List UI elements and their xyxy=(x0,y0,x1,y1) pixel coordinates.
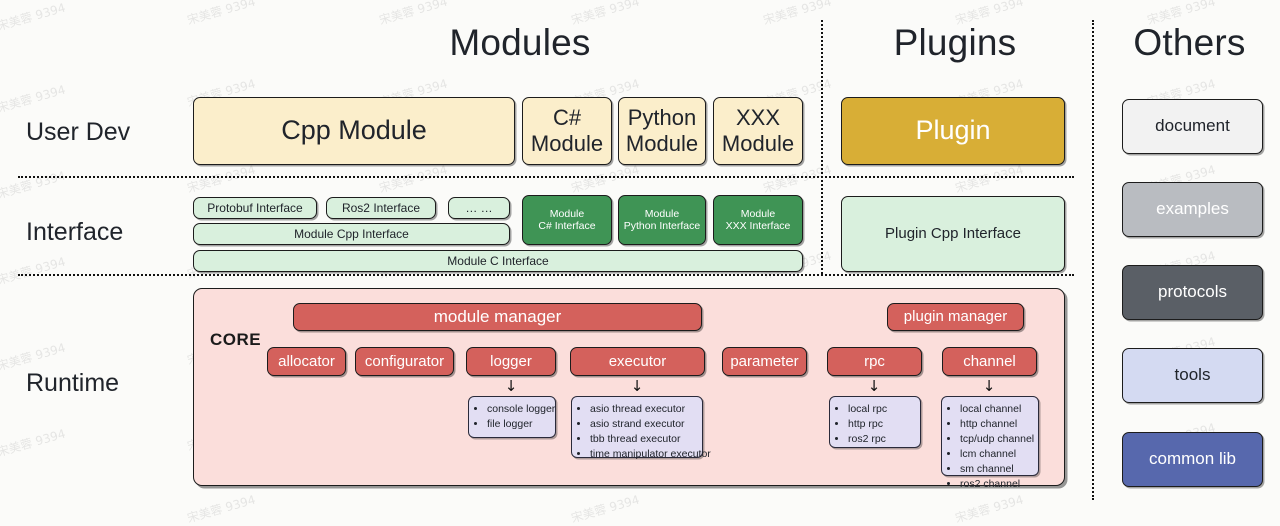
list-item: console logger xyxy=(487,402,549,417)
box-csharp-module-line2: Module xyxy=(531,131,603,157)
box-protobuf-interface[interactable]: Protobuf Interface xyxy=(193,197,317,219)
row-label-user-dev: User Dev xyxy=(26,118,130,147)
box-ros2-interface[interactable]: Ros2 Interface xyxy=(326,197,436,219)
box-csharp-module[interactable]: C# Module xyxy=(522,97,612,165)
box-others-examples[interactable]: examples xyxy=(1122,182,1263,237)
list-item: local rpc xyxy=(848,402,914,417)
list-channel-children: local channel http channel tcp/udp chann… xyxy=(941,396,1039,476)
box-csharp-module-line1: C# xyxy=(553,105,581,131)
watermark: 宋美蓉 9394 xyxy=(185,161,257,197)
box-module-c-interface[interactable]: Module C Interface xyxy=(193,250,803,272)
box-plugin[interactable]: Plugin xyxy=(841,97,1065,165)
list-item: tcp/udp channel xyxy=(960,432,1032,447)
list-item: sm channel xyxy=(960,462,1032,477)
list-item: asio thread executor xyxy=(590,402,696,417)
list-item: lcm channel xyxy=(960,447,1032,462)
list-item: ros2 rpc xyxy=(848,432,914,447)
box-xxx-module-line2: Module xyxy=(722,131,794,157)
box-rpc[interactable]: rpc xyxy=(827,347,922,376)
divider-interface-runtime xyxy=(18,274,1074,276)
list-item: asio strand executor xyxy=(590,417,696,432)
box-allocator[interactable]: allocator xyxy=(267,347,346,376)
box-executor[interactable]: executor xyxy=(570,347,705,376)
box-configurator[interactable]: configurator xyxy=(355,347,454,376)
box-module-xxx-interface-line2: XXX Interface xyxy=(726,220,791,232)
box-module-xxx-interface-line1: Module xyxy=(741,208,775,220)
divider-plugins-others xyxy=(1092,20,1094,500)
box-python-module-line2: Module xyxy=(626,131,698,157)
arrow-down-icon: ↓ xyxy=(504,378,518,394)
watermark: 宋美蓉 9394 xyxy=(569,161,641,197)
box-python-module-line1: Python xyxy=(628,105,697,131)
list-item: ros2 channel xyxy=(960,477,1032,492)
box-module-cpp-interface[interactable]: Module Cpp Interface xyxy=(193,223,510,245)
watermark: 宋美蓉 9394 xyxy=(377,161,449,197)
list-item: time manipulator executor xyxy=(590,447,696,462)
box-module-csharp-interface[interactable]: Module C# Interface xyxy=(522,195,612,245)
row-label-runtime: Runtime xyxy=(26,369,119,398)
arrow-down-icon: ↓ xyxy=(982,378,996,394)
box-xxx-module-line1: XXX xyxy=(736,105,780,131)
divider-modules-plugins xyxy=(821,20,823,274)
list-item: http channel xyxy=(960,417,1032,432)
watermark: 宋美蓉 9394 xyxy=(0,0,67,34)
diagram-canvas: 宋美蓉 9394 宋美蓉 9394 宋美蓉 9394 宋美蓉 9394 宋美蓉 … xyxy=(0,0,1280,519)
box-module-python-interface-line2: Python Interface xyxy=(624,220,700,232)
box-python-module[interactable]: Python Module xyxy=(618,97,706,165)
box-module-csharp-interface-line2: C# Interface xyxy=(538,220,595,232)
box-others-document[interactable]: document xyxy=(1122,99,1263,154)
watermark: 宋美蓉 9394 xyxy=(0,167,67,203)
box-module-python-interface[interactable]: Module Python Interface xyxy=(618,195,706,245)
box-others-tools[interactable]: tools xyxy=(1122,348,1263,403)
core-label: CORE xyxy=(210,330,261,350)
watermark: 宋美蓉 9394 xyxy=(185,491,257,526)
box-plugin-manager[interactable]: plugin manager xyxy=(887,303,1024,331)
watermark: 宋美蓉 9394 xyxy=(569,491,641,526)
list-item: local channel xyxy=(960,402,1032,417)
watermark: 宋美蓉 9394 xyxy=(0,425,67,461)
box-module-csharp-interface-line1: Module xyxy=(550,208,584,220)
box-module-python-interface-line1: Module xyxy=(645,208,679,220)
box-module-xxx-interface[interactable]: Module XXX Interface xyxy=(713,195,803,245)
arrow-down-icon: ↓ xyxy=(867,378,881,394)
box-plugin-cpp-interface[interactable]: Plugin Cpp Interface xyxy=(841,196,1065,272)
watermark: 宋美蓉 9394 xyxy=(185,0,257,28)
divider-user-dev-interface xyxy=(18,176,1074,178)
box-cpp-module[interactable]: Cpp Module xyxy=(193,97,515,165)
box-others-common-lib[interactable]: common lib xyxy=(1122,432,1263,487)
watermark: 宋美蓉 9394 xyxy=(0,81,67,117)
list-item: tbb thread executor xyxy=(590,432,696,447)
list-item: http rpc xyxy=(848,417,914,432)
box-module-manager[interactable]: module manager xyxy=(293,303,702,331)
list-logger-children: console logger file logger xyxy=(468,396,556,438)
row-label-interface: Interface xyxy=(26,218,123,247)
list-item: file logger xyxy=(487,417,549,432)
column-title-modules: Modules xyxy=(350,22,690,64)
box-channel[interactable]: channel xyxy=(942,347,1037,376)
watermark: 宋美蓉 9394 xyxy=(0,253,67,289)
column-title-plugins: Plugins xyxy=(835,22,1075,64)
list-executor-children: asio thread executor asio strand executo… xyxy=(571,396,703,458)
box-xxx-module[interactable]: XXX Module xyxy=(713,97,803,165)
box-parameter[interactable]: parameter xyxy=(722,347,807,376)
watermark: 宋美蓉 9394 xyxy=(953,161,1025,197)
box-logger[interactable]: logger xyxy=(466,347,556,376)
arrow-down-icon: ↓ xyxy=(630,378,644,394)
box-more-interface[interactable]: … … xyxy=(448,197,510,219)
box-others-protocols[interactable]: protocols xyxy=(1122,265,1263,320)
list-rpc-children: local rpc http rpc ros2 rpc xyxy=(829,396,921,448)
watermark: 宋美蓉 9394 xyxy=(953,491,1025,526)
column-title-others: Others xyxy=(1102,22,1277,64)
